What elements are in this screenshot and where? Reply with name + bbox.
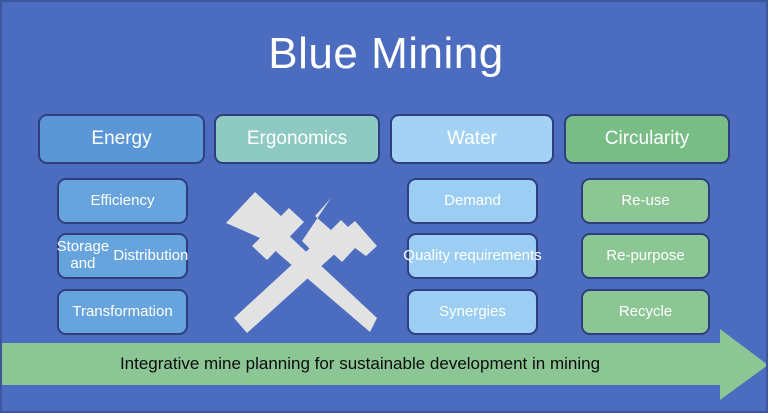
circularity-cell-re-use[interactable]: Re-use: [581, 178, 710, 224]
energy-cell-storage-and-distribution[interactable]: Storage and Distribution: [57, 233, 188, 279]
column-header-energy[interactable]: Energy: [38, 114, 205, 164]
page-title: Blue Mining: [2, 28, 768, 80]
cell-line-1: Quality: [403, 248, 450, 265]
water-cell-quality-requirements[interactable]: Quality requirements: [407, 233, 538, 279]
circularity-cell-re-purpose[interactable]: Re-purpose: [581, 233, 710, 279]
blue-mining-slide: Blue Mining Energy Ergonomics Water Circ…: [0, 0, 768, 413]
water-cell-demand[interactable]: Demand: [407, 178, 538, 224]
cell-line-2: Distribution: [113, 248, 188, 265]
column-header-circularity[interactable]: Circularity: [564, 114, 730, 164]
energy-cell-efficiency[interactable]: Efficiency: [57, 178, 188, 224]
cell-line-2: requirements: [454, 248, 542, 265]
column-header-water[interactable]: Water: [390, 114, 554, 164]
column-header-ergonomics[interactable]: Ergonomics: [214, 114, 380, 164]
banner-caption: Integrative mine planning for sustainabl…: [2, 343, 718, 385]
cell-line-1: Storage and: [57, 239, 110, 273]
crossed-hammer-and-pick-icon: [219, 170, 386, 338]
